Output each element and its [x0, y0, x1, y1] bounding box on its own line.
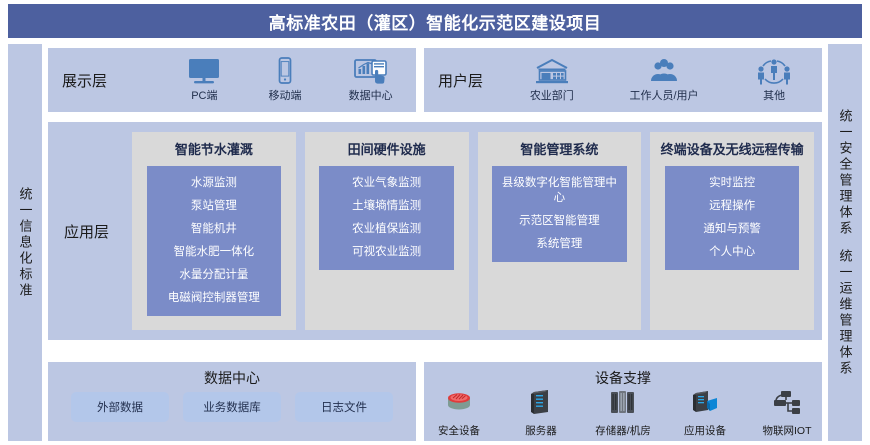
- people-exchange-icon: [754, 57, 794, 85]
- page-title-bar: 高标准农田（灌区）智能化示范区建设项目: [8, 4, 862, 38]
- device-item-storage-label: 存储器/机房: [595, 423, 650, 438]
- device-item-security-label: 安全设备: [438, 423, 480, 438]
- data-center-chip-log-files[interactable]: 日志文件: [295, 392, 393, 422]
- device-item-application-label: 应用设备: [684, 423, 726, 438]
- iot-network-icon: [770, 388, 804, 421]
- device-item-server-label: 服务器: [525, 423, 557, 438]
- app-panel-field-hardware[interactable]: 田间硬件设施 农业气象监测 土壤墒情监测 农业植保监测 可视农业监测: [305, 132, 469, 330]
- left-rail-label: 统一信息化标准: [19, 187, 32, 299]
- device-item-iot-label: 物联网IOT: [763, 423, 812, 438]
- people-group-icon: [645, 57, 683, 85]
- display-layer-label: 展示层: [62, 48, 107, 112]
- display-layer-section: 展示层 PC端: [48, 48, 416, 112]
- app-panel-body: 农业气象监测 土壤墒情监测 农业植保监测 可视农业监测: [319, 166, 453, 270]
- app-panel-item[interactable]: 农业植保监测: [350, 218, 423, 241]
- app-panel-item[interactable]: 土壤墒情监测: [350, 195, 423, 218]
- device-support-list: 安全设备 服务器: [424, 388, 822, 438]
- right-rail-management-systems: 统一安全管理体系 统一运维管理体系: [828, 44, 862, 441]
- user-item-agriculture-department[interactable]: 农业部门: [530, 57, 574, 103]
- app-panel-body: 水源监测 泵站管理 智能机井 智能水肥一体化 水量分配计量 电磁阀控制器管理: [147, 166, 281, 316]
- app-panel-item[interactable]: 实时监控: [707, 172, 757, 195]
- device-item-server[interactable]: 服务器: [508, 388, 574, 438]
- app-panel-smart-management-system[interactable]: 智能管理系统 县级数字化智能管理中心 示范区智能管理 系统管理: [478, 132, 642, 330]
- storage-rack-icon: [606, 388, 640, 421]
- app-panel-title: 智能管理系统: [514, 142, 604, 158]
- app-panel-item[interactable]: 泵站管理: [189, 195, 239, 218]
- device-support-title: 设备支撑: [424, 368, 822, 388]
- app-panel-item[interactable]: 智能水肥一体化: [172, 241, 257, 264]
- page-title: 高标准农田（灌区）智能化示范区建设项目: [269, 9, 602, 34]
- device-support-section: 设备支撑 安全设备: [424, 362, 822, 441]
- architecture-diagram: 高标准农田（灌区）智能化示范区建设项目 统一信息化标准 统一安全管理体系 统一运…: [0, 0, 870, 445]
- app-panel-item[interactable]: 个人中心: [707, 241, 757, 264]
- app-panel-terminal-wireless[interactable]: 终端设备及无线远程传输 实时监控 远程操作 通知与预警 个人中心: [650, 132, 814, 330]
- device-item-iot[interactable]: 物联网IOT: [754, 388, 820, 438]
- app-panel-item[interactable]: 电磁阀控制器管理: [166, 287, 262, 310]
- data-center-chip-list: 外部数据 业务数据库 日志文件: [48, 392, 416, 422]
- app-panel-item[interactable]: 县级数字化智能管理中心: [496, 172, 622, 210]
- application-server-icon: [688, 388, 722, 421]
- server-icon: [524, 388, 558, 421]
- right-rail-label-operations: 统一运维管理体系: [839, 249, 852, 377]
- firewall-router-icon: [442, 388, 476, 421]
- application-layer-label: 应用层: [64, 122, 109, 340]
- app-panel-title: 智能节水灌溉: [169, 142, 259, 158]
- device-item-security[interactable]: 安全设备: [426, 388, 492, 438]
- data-center-chip-business-db[interactable]: 业务数据库: [183, 392, 281, 422]
- app-panel-title: 田间硬件设施: [342, 142, 432, 158]
- app-panel-smart-irrigation[interactable]: 智能节水灌溉 水源监测 泵站管理 智能机井 智能水肥一体化 水量分配计量 电磁阀…: [132, 132, 296, 330]
- app-panel-item[interactable]: 水量分配计量: [177, 264, 250, 287]
- data-center-chip-external-data[interactable]: 外部数据: [71, 392, 169, 422]
- application-layer-section: 应用层 智能节水灌溉 水源监测 泵站管理 智能机井 智能水肥一体化 水量分配计量…: [48, 122, 822, 340]
- user-item-other[interactable]: 其他: [754, 57, 794, 103]
- app-panel-item[interactable]: 系统管理: [534, 233, 584, 256]
- device-item-storage[interactable]: 存储器/机房: [590, 388, 656, 438]
- app-panel-item[interactable]: 智能机井: [189, 218, 239, 241]
- user-item-other-label: 其他: [763, 87, 785, 103]
- display-item-data-center[interactable]: 数据中心: [349, 57, 393, 103]
- data-center-title: 数据中心: [48, 368, 416, 388]
- app-panel-item[interactable]: 农业气象监测: [350, 172, 423, 195]
- data-center-section: 数据中心 外部数据 业务数据库 日志文件: [48, 362, 416, 441]
- display-item-pc[interactable]: PC端: [187, 57, 221, 103]
- app-panel-item[interactable]: 示范区智能管理: [517, 210, 602, 233]
- mobile-phone-icon: [268, 57, 302, 85]
- monitor-icon: [187, 57, 221, 85]
- user-item-staff-user-label: 工作人员/用户: [629, 87, 698, 103]
- app-panel-item[interactable]: 水源监测: [189, 172, 239, 195]
- app-panel-item[interactable]: 通知与预警: [701, 218, 763, 241]
- left-rail-unified-informatization-standard: 统一信息化标准: [8, 44, 42, 441]
- display-item-mobile-label: 移动端: [268, 87, 301, 103]
- app-panel-body: 县级数字化智能管理中心 示范区智能管理 系统管理: [492, 166, 626, 262]
- user-item-staff-user[interactable]: 工作人员/用户: [629, 57, 698, 103]
- app-panel-item[interactable]: 可视农业监测: [350, 241, 423, 264]
- right-rail-label-security: 统一安全管理体系: [839, 109, 852, 237]
- government-building-icon: [533, 57, 571, 85]
- display-item-data-center-label: 数据中心: [349, 87, 393, 103]
- user-layer-label: 用户层: [438, 48, 483, 112]
- app-panel-title: 终端设备及无线远程传输: [655, 142, 810, 158]
- user-item-agriculture-department-label: 农业部门: [530, 87, 574, 103]
- app-panel-item[interactable]: 远程操作: [707, 195, 757, 218]
- app-panel-body: 实时监控 远程操作 通知与预警 个人中心: [665, 166, 799, 270]
- device-item-application[interactable]: 应用设备: [672, 388, 738, 438]
- display-item-mobile[interactable]: 移动端: [268, 57, 302, 103]
- application-panel-list: 智能节水灌溉 水源监测 泵站管理 智能机井 智能水肥一体化 水量分配计量 电磁阀…: [132, 132, 814, 330]
- user-layer-section: 用户层 农业部门: [424, 48, 822, 112]
- display-item-pc-label: PC端: [191, 87, 217, 103]
- dashboard-hand-icon: [353, 57, 389, 85]
